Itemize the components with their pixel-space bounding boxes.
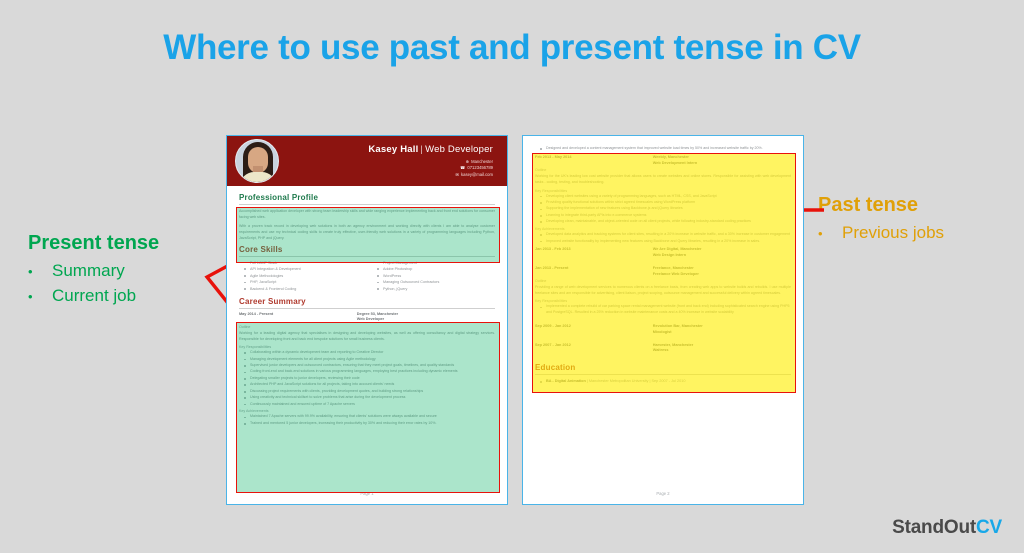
- core-skills-column-left: Full LAMP Stack API Integration & Develo…: [239, 260, 362, 293]
- label-key-responsibilities: Key Responsibilities: [239, 345, 495, 349]
- job-role: Web Design Intern: [653, 253, 702, 259]
- core-skills-column-right: Project Management Adobe Photoshop WordP…: [372, 260, 495, 293]
- job-heading-weebly: Feb 2013 - May 2014 Weebly, Manchester W…: [535, 155, 791, 166]
- location-icon: ⊕: [466, 160, 470, 164]
- annotation-present-heading: Present tense: [28, 231, 228, 256]
- profile-paragraph-1: With a proven track record in developing…: [239, 223, 495, 241]
- avatar: [235, 139, 279, 183]
- list-item: Developing clean, maintainable, and obje…: [535, 219, 791, 225]
- cv-candidate-name: Kasey Hall|Web Developer: [368, 144, 493, 155]
- list-item: Project Management: [372, 260, 495, 266]
- job-responsibilities-list: Implemented a complete rebuild of car pa…: [535, 304, 791, 316]
- list-item: • Previous jobs: [818, 221, 1018, 246]
- job-company: Freelance, Manchester: [653, 266, 699, 272]
- job-company-role: Freelance, Manchester Freelance Web Deve…: [653, 266, 699, 277]
- cv-page-2[interactable]: Designed and developed a content managem…: [522, 135, 804, 505]
- list-item: Learning to integrate third-party APIs i…: [535, 213, 791, 219]
- list-item: Providing quality functional solutions w…: [535, 200, 791, 206]
- job-role: Freelance Web Developer: [653, 272, 699, 278]
- label-outline: Outline: [239, 325, 495, 329]
- brand-suffix: CV: [976, 517, 1002, 538]
- label-key-responsibilities: Key Responsibilities: [535, 189, 791, 193]
- job-outline-text: Working for the UK's leading low cost we…: [535, 173, 791, 185]
- job-company-role: Harvester, Manchester Waitress: [653, 343, 694, 354]
- list-item: Managing Outsourced Contractors: [372, 279, 495, 285]
- job-dates: Jan 2013 - Feb 2013: [535, 247, 653, 258]
- education-detail: | Manchester Metropolitan University | S…: [586, 379, 686, 383]
- job-achievements-list: Developed data analytics and tracking sy…: [535, 232, 791, 244]
- section-title-professional-profile: Professional Profile: [239, 193, 495, 205]
- page-footer-1: Page 1: [227, 491, 507, 496]
- list-item: Developing client websites using a varie…: [535, 194, 791, 200]
- job-dates: Sep 2009 - Jan 2012: [535, 324, 653, 335]
- list-item: Supervised junior developers and outsour…: [239, 363, 495, 369]
- job-responsibilities-list: Developing client websites using a varie…: [535, 194, 791, 226]
- annotation-past-tense: Past tense • Previous jobs: [818, 193, 1018, 246]
- page2-top-bullets: Designed and developed a content managem…: [535, 146, 791, 152]
- annotation-past-list: • Previous jobs: [818, 221, 1018, 246]
- brand-logo: StandOutCV: [892, 517, 1002, 539]
- candidate-role-text: Web Developer: [425, 144, 493, 155]
- job-company-role: Revolution Bar, Manchester Mixologist: [653, 324, 703, 335]
- job-role: Waitress: [653, 348, 694, 354]
- list-item: Discussing project requirements with cli…: [239, 389, 495, 395]
- list-item: PHP, JavaScript: [239, 279, 362, 285]
- section-title-core-skills: Core Skills: [239, 245, 495, 257]
- label-key-achievements: Key Achievements: [535, 227, 791, 231]
- job-dates: Feb 2013 - May 2014: [535, 155, 653, 166]
- list-item: Supporting the implementation of new fea…: [535, 206, 791, 212]
- contact-email-text: kasey@mail.com: [461, 172, 493, 179]
- job-dates: Jan 2013 - Present: [535, 266, 653, 277]
- annotation-present-item-0: Summary: [52, 259, 125, 284]
- education-degree: BA - Digital Animation: [546, 379, 586, 383]
- list-item: Continuously maintained and ensured upti…: [239, 402, 495, 408]
- list-item: Full LAMP Stack: [239, 260, 362, 266]
- cv-page-1[interactable]: Kasey Hall|Web Developer ⊕ Manchester ☎ …: [226, 135, 508, 505]
- job-outline-text: Providing a range of web development ser…: [535, 284, 791, 296]
- job-dates: May 2014 - Present: [239, 312, 357, 323]
- list-item: API Integration & Development: [239, 266, 362, 272]
- education-entry: BA - Digital Animation | Manchester Metr…: [535, 379, 791, 383]
- list-item: Python, jQuery: [372, 286, 495, 292]
- list-item: Using creativity and technical skillset …: [239, 395, 495, 401]
- list-item: Trained and mentored 5 junior developers…: [239, 421, 495, 427]
- candidate-name-text: Kasey Hall: [368, 144, 418, 155]
- job-role: Web Developer: [357, 317, 398, 323]
- bullet-icon: •: [818, 225, 842, 244]
- phone-icon: ☎: [460, 166, 465, 170]
- list-item: Delegating smaller projects to junior de…: [239, 376, 495, 382]
- job-role: Mixologist: [653, 330, 703, 336]
- job-heading-we-are-digital: Jan 2013 - Feb 2013 We Are Digital, Manc…: [535, 247, 791, 258]
- section-title-education: Education: [535, 363, 791, 375]
- core-skills-grid: Full LAMP Stack API Integration & Develo…: [239, 260, 495, 293]
- job-heading-harvester: Sep 2007 - Jan 2012 Harvester, Mancheste…: [535, 343, 791, 354]
- cv-contact-details: ⊕ Manchester ☎ 07123456789 ✉ kasey@mail.…: [368, 159, 493, 179]
- brand-name: StandOut: [892, 517, 976, 538]
- email-icon: ✉: [456, 173, 460, 177]
- list-item: • Summary: [28, 259, 228, 284]
- list-item: Designed and developed a content managem…: [535, 146, 791, 152]
- list-item: Developed data analytics and tracking sy…: [535, 232, 791, 238]
- list-item: Coding front-end and back-end solutions …: [239, 369, 495, 375]
- job-dates: Sep 2007 - Jan 2012: [535, 343, 653, 354]
- job-heading-current: May 2014 - Present Degree 53, Manchester…: [239, 312, 495, 323]
- name-separator: |: [420, 144, 423, 155]
- list-item: Agile Methodologies: [239, 273, 362, 279]
- label-key-achievements: Key Achievements: [239, 409, 495, 413]
- cv-header-band: Kasey Hall|Web Developer ⊕ Manchester ☎ …: [227, 136, 507, 186]
- section-title-career-summary: Career Summary: [239, 297, 495, 309]
- job-heading-freelance: Jan 2013 - Present Freelance, Manchester…: [535, 266, 791, 277]
- list-item: • Current job: [28, 284, 228, 309]
- list-item: Collaborating within a dynamic developme…: [239, 350, 495, 356]
- contact-email: ✉ kasey@mail.com: [368, 172, 493, 179]
- job-achievements-list: Maintained 7 Apache servers with 99.9% a…: [239, 414, 495, 426]
- list-item: Adobe Photoshop: [372, 266, 495, 272]
- label-outline: Outline: [535, 168, 791, 172]
- list-item: WordPress: [372, 273, 495, 279]
- list-item: Managing development elements for all cl…: [239, 357, 495, 363]
- list-item: Maintained 7 Apache servers with 99.9% a…: [239, 414, 495, 420]
- annotation-present-tense: Present tense • Summary • Current job: [28, 231, 228, 308]
- annotation-present-item-1: Current job: [52, 284, 136, 309]
- job-heading-revolution-bar: Sep 2009 - Jan 2012 Revolution Bar, Manc…: [535, 324, 791, 335]
- job-company-role: Degree 53, Manchester Web Developer: [357, 312, 398, 323]
- annotation-present-list: • Summary • Current job: [28, 259, 228, 308]
- list-item: Implemented a complete rebuild of car pa…: [535, 304, 791, 316]
- job-role: Web Development Intern: [653, 161, 697, 167]
- job-company-role: We Are Digital, Manchester Web Design In…: [653, 247, 702, 258]
- page-footer-2: Page 2: [523, 491, 803, 496]
- label-key-responsibilities: Key Responsibilities: [535, 299, 791, 303]
- list-item: Improved website functionality by implem…: [535, 239, 791, 245]
- list-item: Backend & Frontend Coding: [239, 286, 362, 292]
- annotation-past-heading: Past tense: [818, 193, 1018, 218]
- annotation-past-item-0: Previous jobs: [842, 221, 944, 246]
- page-title: Where to use past and present tense in C…: [0, 28, 1024, 68]
- list-item: Architected PHP and JavaScript solutions…: [239, 382, 495, 388]
- profile-paragraph-0: Accomplished web application developer w…: [239, 208, 495, 220]
- job-outline-text: Working for a leading digital agency tha…: [239, 330, 495, 342]
- job-company-role: Weebly, Manchester Web Development Inter…: [653, 155, 697, 166]
- job-responsibilities-list: Collaborating within a dynamic developme…: [239, 350, 495, 407]
- bullet-icon: •: [28, 263, 52, 282]
- bullet-icon: •: [28, 288, 52, 307]
- label-outline: Outline: [535, 279, 791, 283]
